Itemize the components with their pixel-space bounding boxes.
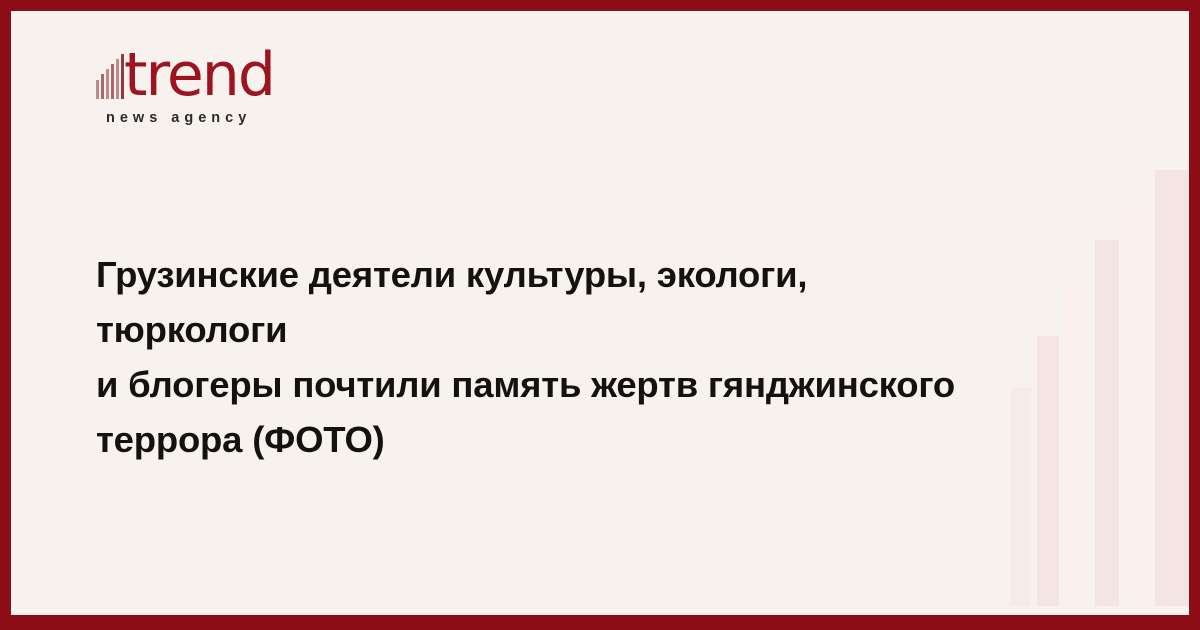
watermark-bar [1155, 170, 1189, 606]
logomark-bar [111, 64, 114, 99]
page-title-line: террора (ФОТО) [96, 412, 996, 467]
brand-wordmark: trend [124, 44, 274, 106]
watermark-bar [1011, 388, 1031, 606]
trend-bars-watermark [1011, 170, 1189, 606]
page-title-line: и блогеры почтили память жертв гянджинск… [96, 357, 996, 412]
logomark-bar [106, 69, 109, 99]
article-card: trend news agency Грузинские деятели кул… [11, 11, 1189, 615]
watermark-bar [1037, 336, 1059, 606]
watermark-bar [1065, 283, 1089, 606]
trend-bars-logomark-icon [96, 54, 126, 99]
logomark-bar [116, 59, 119, 99]
brand-tagline: news agency [106, 110, 251, 126]
logomark-bar [101, 74, 104, 99]
watermark-bar [1095, 240, 1119, 606]
page-title-line: Грузинские деятели культуры, экологи, тю… [96, 247, 996, 357]
logo-row: trend [96, 48, 356, 106]
brand-logo[interactable]: trend news agency [96, 48, 356, 106]
watermark-bar [1125, 201, 1149, 606]
page-title: Грузинские деятели культуры, экологи, тю… [96, 247, 996, 467]
logomark-bar [96, 80, 99, 99]
